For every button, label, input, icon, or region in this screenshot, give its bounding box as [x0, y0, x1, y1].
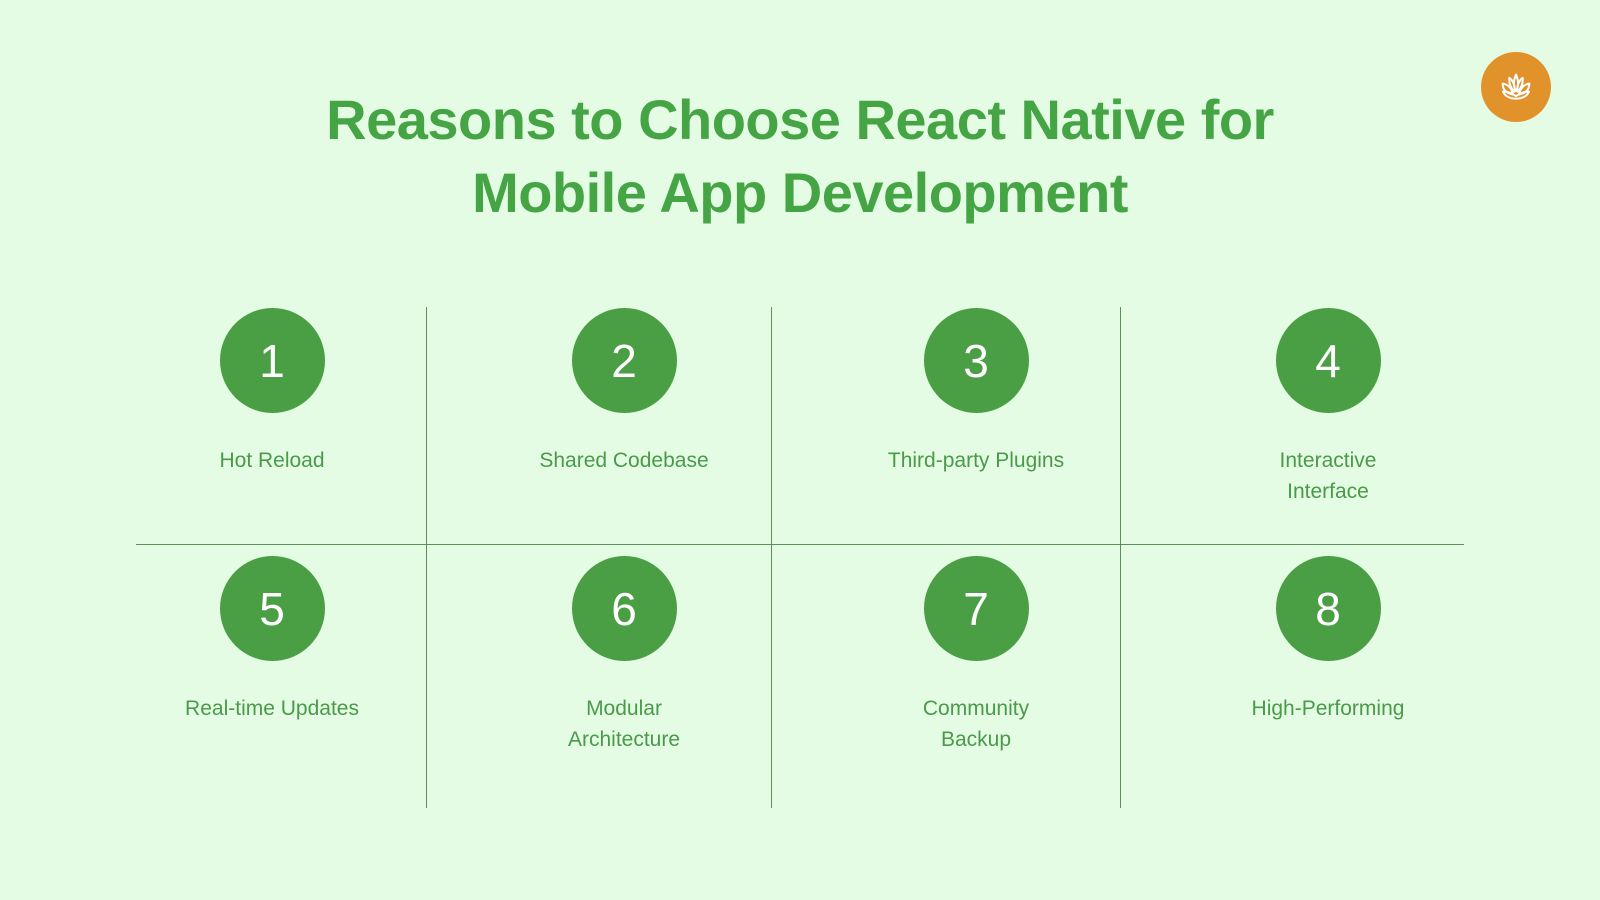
reason-number-6: 6 [611, 586, 637, 632]
reason-label-5: Real-time Updates [185, 693, 359, 724]
reason-number-3: 3 [963, 338, 989, 384]
reason-item-4[interactable]: 4 Interactive Interface [1152, 296, 1504, 544]
reason-number-8: 8 [1315, 586, 1341, 632]
reason-item-6[interactable]: 6 Modular Architecture [448, 544, 800, 808]
reason-number-badge-6: 6 [572, 556, 677, 661]
reason-number-badge-1: 1 [220, 308, 325, 413]
reason-item-7[interactable]: 7 Community Backup [800, 544, 1152, 808]
reason-item-5[interactable]: 5 Real-time Updates [96, 544, 448, 808]
reason-label-4: Interactive Interface [1238, 445, 1418, 507]
reason-label-3: Third-party Plugins [888, 445, 1064, 476]
reason-number-badge-7: 7 [924, 556, 1029, 661]
reason-label-7: Community Backup [886, 693, 1066, 755]
reason-number-1: 1 [259, 338, 285, 384]
reason-item-2[interactable]: 2 Shared Codebase [448, 296, 800, 544]
reason-label-2: Shared Codebase [539, 445, 708, 476]
reason-number-2: 2 [611, 338, 637, 384]
page-title-line-1: Reasons to Choose React Native for [0, 84, 1600, 157]
reasons-grid: 1 Hot Reload 2 Shared Codebase 3 Third-p… [96, 296, 1504, 808]
reason-item-1[interactable]: 1 Hot Reload [96, 296, 448, 544]
reason-label-8: High-Performing [1252, 693, 1405, 724]
reason-item-3[interactable]: 3 Third-party Plugins [800, 296, 1152, 544]
reason-number-badge-3: 3 [924, 308, 1029, 413]
reason-number-4: 4 [1315, 338, 1341, 384]
reason-label-1: Hot Reload [219, 445, 324, 476]
reason-label-6: Modular Architecture [534, 693, 714, 755]
reason-number-5: 5 [259, 586, 285, 632]
reason-number-7: 7 [963, 586, 989, 632]
page-title: Reasons to Choose React Native for Mobil… [0, 84, 1600, 230]
reason-number-badge-2: 2 [572, 308, 677, 413]
reason-number-badge-8: 8 [1276, 556, 1381, 661]
reason-number-badge-4: 4 [1276, 308, 1381, 413]
reason-item-8[interactable]: 8 High-Performing [1152, 544, 1504, 808]
page-title-line-2: Mobile App Development [0, 157, 1600, 230]
reason-number-badge-5: 5 [220, 556, 325, 661]
